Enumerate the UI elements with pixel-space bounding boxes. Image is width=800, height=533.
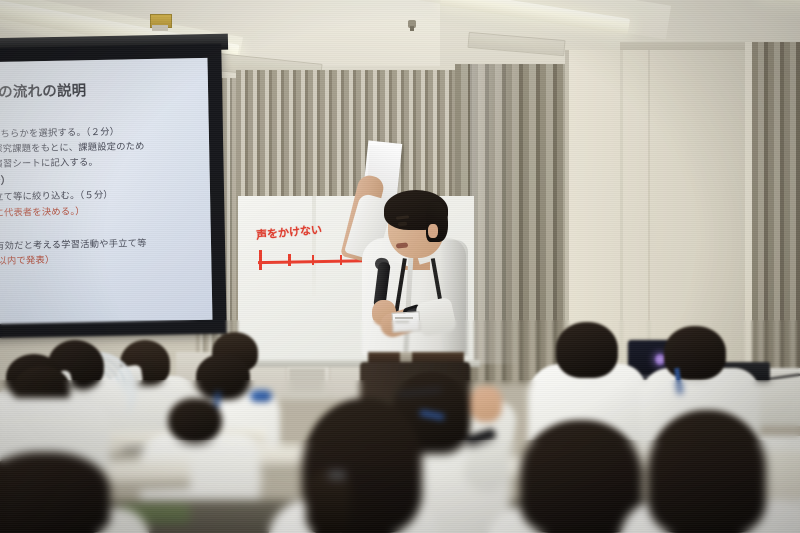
timeline-tick-1 bbox=[259, 250, 262, 270]
projected-slide: ・協議の流れの説明 ［２５分］ 先①②のどちらかを選択する。（２分） の実態、探… bbox=[0, 58, 212, 324]
attendee-head-mid-center bbox=[168, 398, 222, 444]
slide-glare bbox=[0, 58, 212, 324]
attendee-hand-front-center bbox=[470, 386, 502, 422]
presenter-eye bbox=[398, 222, 407, 227]
wall-seam-2 bbox=[648, 50, 650, 380]
attendee-head-front-left bbox=[0, 452, 110, 533]
air-conditioner-vent bbox=[289, 368, 325, 394]
presenter-ear bbox=[428, 224, 438, 238]
hair-tie bbox=[328, 470, 346, 480]
attendee-head-front-right-1 bbox=[520, 420, 642, 533]
whiteboard-seam bbox=[312, 196, 316, 296]
curtain-far-right bbox=[752, 42, 800, 387]
wall-seam-1 bbox=[620, 50, 623, 380]
attendee-head-front-right-2 bbox=[648, 410, 766, 533]
attendee-head-mid-left-2 bbox=[196, 354, 250, 400]
attendee-head-mid-right-1 bbox=[556, 322, 618, 378]
timeline-tick-4 bbox=[340, 255, 342, 265]
sprinkler-head bbox=[410, 26, 414, 31]
ceiling-speaker-base bbox=[152, 25, 168, 31]
photo-scene: ・協議の流れの説明 ［２５分］ 先①②のどちらかを選択する。（２分） の実態、探… bbox=[0, 0, 800, 533]
blue-bag-3 bbox=[250, 390, 272, 402]
id-badge-line-1 bbox=[395, 317, 413, 319]
timeline-tick-3 bbox=[312, 255, 314, 265]
id-badge-line-2 bbox=[395, 321, 409, 323]
timeline-tick-2 bbox=[288, 254, 291, 266]
window-daylight-glow bbox=[470, 64, 520, 364]
attendee-head-mid-right-2 bbox=[664, 326, 726, 380]
